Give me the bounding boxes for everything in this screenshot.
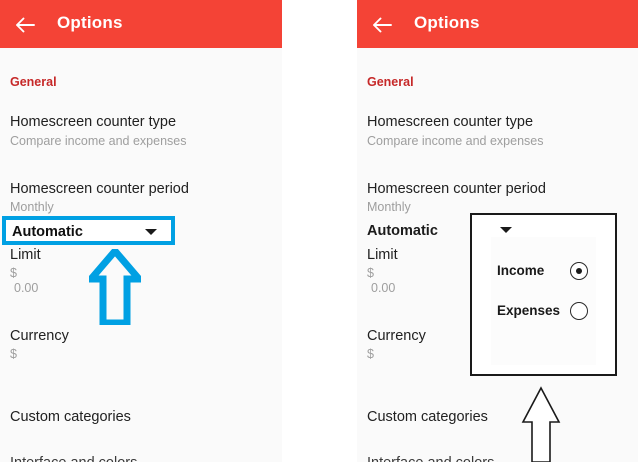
- pref-summary-counter-type: Compare income and expenses: [367, 134, 544, 148]
- pref-title-limit[interactable]: Limit: [10, 247, 41, 263]
- pref-summary-limit-currency: $: [367, 266, 374, 280]
- pref-title-counter-period[interactable]: Homescreen counter period: [367, 181, 546, 197]
- section-header-general: General: [367, 75, 414, 89]
- page-title: Options: [414, 13, 480, 33]
- pref-title-clipped[interactable]: Interface and colors: [10, 455, 137, 462]
- pref-title-counter-type[interactable]: Homescreen counter type: [10, 114, 176, 130]
- pref-title-currency[interactable]: Currency: [367, 328, 426, 344]
- phone-screenshot-left: Options General Homescreen counter type …: [0, 0, 282, 462]
- counter-type-spinner-value[interactable]: Automatic: [367, 223, 438, 239]
- pref-title-limit[interactable]: Limit: [367, 247, 398, 263]
- radio-button-icon[interactable]: [570, 262, 588, 280]
- pref-title-counter-type[interactable]: Homescreen counter type: [367, 114, 533, 130]
- chevron-down-icon: [145, 229, 157, 235]
- pref-title-counter-period[interactable]: Homescreen counter period: [10, 181, 189, 197]
- pref-summary-counter-type: Compare income and expenses: [10, 134, 187, 148]
- pref-summary-counter-period: Monthly: [367, 200, 411, 214]
- pref-title-currency[interactable]: Currency: [10, 328, 69, 344]
- pref-title-custom-categories[interactable]: Custom categories: [10, 409, 131, 425]
- pref-summary-currency: $: [10, 347, 17, 361]
- page-title: Options: [57, 13, 123, 33]
- pref-summary-limit-amount: 0.00: [14, 281, 38, 295]
- back-arrow-icon[interactable]: [14, 14, 36, 36]
- up-arrow-icon: [519, 386, 563, 462]
- chevron-down-icon: [500, 227, 512, 233]
- app-bar-right: Options: [357, 0, 638, 48]
- dropdown-option-list: Income Expenses: [491, 237, 596, 365]
- panel-gutter: [282, 0, 357, 462]
- pref-summary-counter-period: Monthly: [10, 200, 54, 214]
- up-arrow-icon: [89, 249, 141, 325]
- counter-type-spinner-highlighted[interactable]: Automatic: [2, 216, 175, 245]
- counter-type-dropdown-popup[interactable]: Income Expenses: [470, 213, 617, 376]
- pref-summary-limit-currency: $: [10, 266, 17, 280]
- dropdown-option-expenses[interactable]: Expenses: [497, 299, 590, 325]
- app-bar-left: Options: [0, 0, 282, 48]
- back-arrow-icon[interactable]: [371, 14, 393, 36]
- spinner-value-label: Automatic: [12, 224, 83, 240]
- pref-title-custom-categories[interactable]: Custom categories: [367, 409, 488, 425]
- dropdown-option-income[interactable]: Income: [497, 259, 590, 285]
- pref-title-clipped[interactable]: Interface and colors: [367, 455, 494, 462]
- radio-button-icon[interactable]: [570, 302, 588, 320]
- pref-summary-limit-amount: 0.00: [371, 281, 395, 295]
- pref-summary-currency: $: [367, 347, 374, 361]
- section-header-general: General: [10, 75, 57, 89]
- dropdown-option-label: Income: [497, 263, 544, 278]
- dropdown-option-label: Expenses: [497, 303, 560, 318]
